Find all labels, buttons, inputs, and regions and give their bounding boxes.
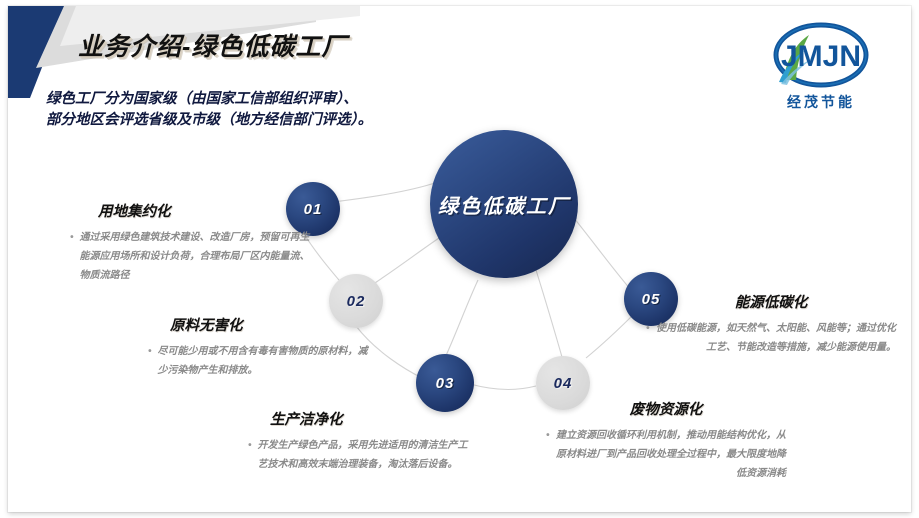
bullet-icon: • [148,342,152,380]
info-block-03: 生产洁净化 • 开发生产绿色产品，采用先进适用的清洁生产工艺技术和高效末端治理装… [248,408,473,474]
info-block-04-body: • 建立资源回收循环利用机制，推动用能结构优化，从原材料进厂到产品回收处理全过程… [546,426,786,483]
info-block-03-heading: 生产洁净化 [248,408,473,429]
info-block-03-body: • 开发生产绿色产品，采用先进适用的清洁生产工艺技术和高效末端治理装备，淘汰落后… [248,436,473,474]
info-block-02: 原料无害化 • 尽可能少用或不用含有毒有害物质的原材料，减少污染物产生和排放。 [148,314,373,380]
diagram-node-03[interactable]: 03 [416,354,474,412]
bullet-icon: • [546,426,550,483]
info-block-04: 废物资源化 • 建立资源回收循环利用机制，推动用能结构优化，从原材料进厂到产品回… [546,398,786,483]
bullet-icon: • [646,319,650,357]
bullet-icon: • [248,436,252,474]
info-block-02-body: • 尽可能少用或不用含有毒有害物质的原材料，减少污染物产生和排放。 [148,342,373,380]
node-03-number: 03 [436,375,455,392]
info-block-02-text: 尽可能少用或不用含有毒有害物质的原材料，减少污染物产生和排放。 [158,342,373,380]
bullet-icon: • [70,228,74,285]
info-block-05-body: • 使用低碳能源，如天然气、太阳能、风能等；通过优化工艺、节能改造等措施，减少能… [646,319,896,357]
slide-canvas: 业务介绍-绿色低碳工厂 绿色工厂分为国家级（由国家工信部组织评审）、 部分地区会… [8,6,911,512]
info-block-05-text: 使用低碳能源，如天然气、太阳能、风能等；通过优化工艺、节能改造等措施，减少能源使… [656,319,896,357]
info-block-05: 能源低碳化 • 使用低碳能源，如天然气、太阳能、风能等；通过优化工艺、节能改造等… [646,291,896,357]
process-diagram: 绿色低碳工厂 01 02 03 04 05 用地集约化 • 通过采用绿色建筑技术… [8,6,911,512]
info-block-04-heading: 废物资源化 [546,398,786,419]
info-block-02-heading: 原料无害化 [148,314,373,335]
info-block-01-heading: 用地集约化 [70,200,310,221]
info-block-04-text: 建立资源回收循环利用机制，推动用能结构优化，从原材料进厂到产品回收处理全过程中，… [556,426,786,483]
info-block-05-heading: 能源低碳化 [646,291,896,312]
info-block-03-text: 开发生产绿色产品，采用先进适用的清洁生产工艺技术和高效末端治理装备，淘汰落后设备… [258,436,473,474]
info-block-01-body: • 通过采用绿色建筑技术建设、改造厂房，预留可再生能源应用场所和设计负荷，合理布… [70,228,310,285]
hub-label: 绿色低碳工厂 [438,190,570,219]
info-block-01: 用地集约化 • 通过采用绿色建筑技术建设、改造厂房，预留可再生能源应用场所和设计… [70,200,310,285]
node-02-number: 02 [347,293,366,310]
info-block-01-text: 通过采用绿色建筑技术建设、改造厂房，预留可再生能源应用场所和设计负荷，合理布局厂… [80,228,310,285]
node-04-number: 04 [554,375,573,392]
diagram-hub[interactable]: 绿色低碳工厂 [430,130,578,278]
